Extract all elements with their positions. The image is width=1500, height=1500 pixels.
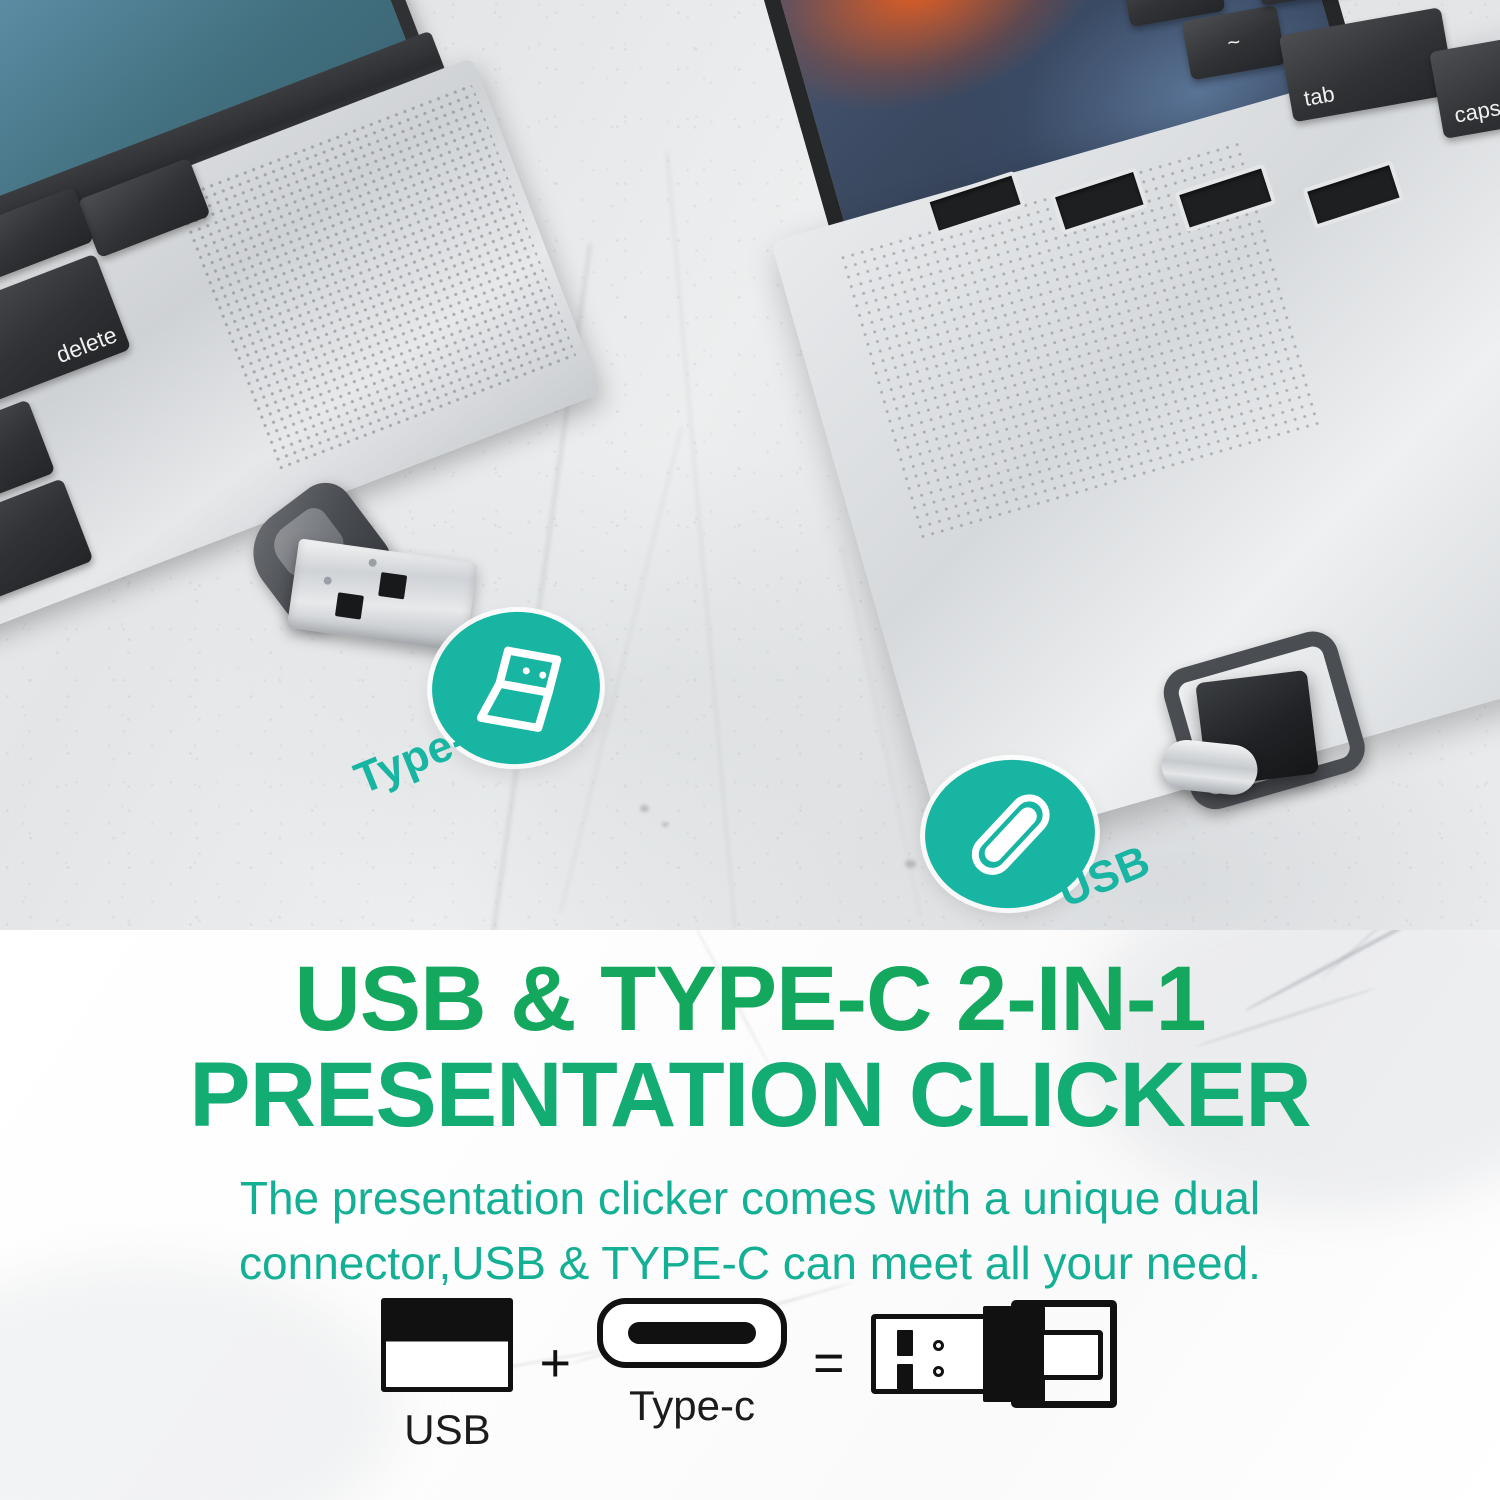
headline-line-1: USB & TYPE-C 2-IN-1: [0, 952, 1500, 1048]
dongle-type-c-inner: [1039, 1330, 1103, 1380]
formula-usb-label: USB: [404, 1406, 490, 1454]
usb-plug-pin: [323, 576, 332, 585]
formula-typec: Type-c: [597, 1298, 787, 1430]
formula-result: [871, 1298, 1119, 1422]
badge-type-c: Type-c: [432, 612, 600, 764]
usb-plug-hole: [335, 592, 364, 619]
left-laptop-taskbar: 92% ∧ ▭: [0, 0, 350, 52]
subheadline: The presentation clicker comes with a un…: [190, 1166, 1310, 1297]
product-marketing-image: 92% ∧ ▭: [0, 0, 1500, 1500]
surface-blemish: [662, 822, 668, 827]
equals-operator: =: [813, 1332, 845, 1394]
usb-plug-pin: [368, 558, 377, 567]
formula-typec-label: Type-c: [629, 1382, 755, 1430]
dongle-usb-pin: [933, 1340, 944, 1351]
usb-a-icon: [381, 1298, 513, 1392]
plus-operator: +: [539, 1332, 571, 1394]
formula-usb: USB: [381, 1298, 513, 1454]
dongle-usb-slot: [897, 1364, 913, 1390]
dual-connector-dongle-icon: [871, 1300, 1119, 1408]
surface-blemish: [905, 860, 916, 868]
dongle-usb-pin: [933, 1366, 944, 1377]
product-photo-panel: 92% ∧ ▭: [0, 0, 1500, 930]
type-c-dongle: [1139, 627, 1381, 842]
surface-blemish: [640, 805, 649, 812]
usb-plug-hole: [378, 572, 407, 599]
page-title: USB & TYPE-C 2-IN-1 PRESENTATION CLICKER: [0, 952, 1500, 1143]
connector-formula: USB + Type-c =: [0, 1298, 1500, 1454]
marketing-text-panel: USB & TYPE-C 2-IN-1 PRESENTATION CLICKER…: [0, 930, 1500, 1500]
badge-usb: USB: [925, 760, 1095, 908]
headline-line-2: PRESENTATION CLICKER: [0, 1048, 1500, 1144]
type-c-icon: [597, 1298, 787, 1368]
dongle-usb-slot: [897, 1330, 913, 1356]
dongle-usb-shell: [871, 1314, 989, 1394]
